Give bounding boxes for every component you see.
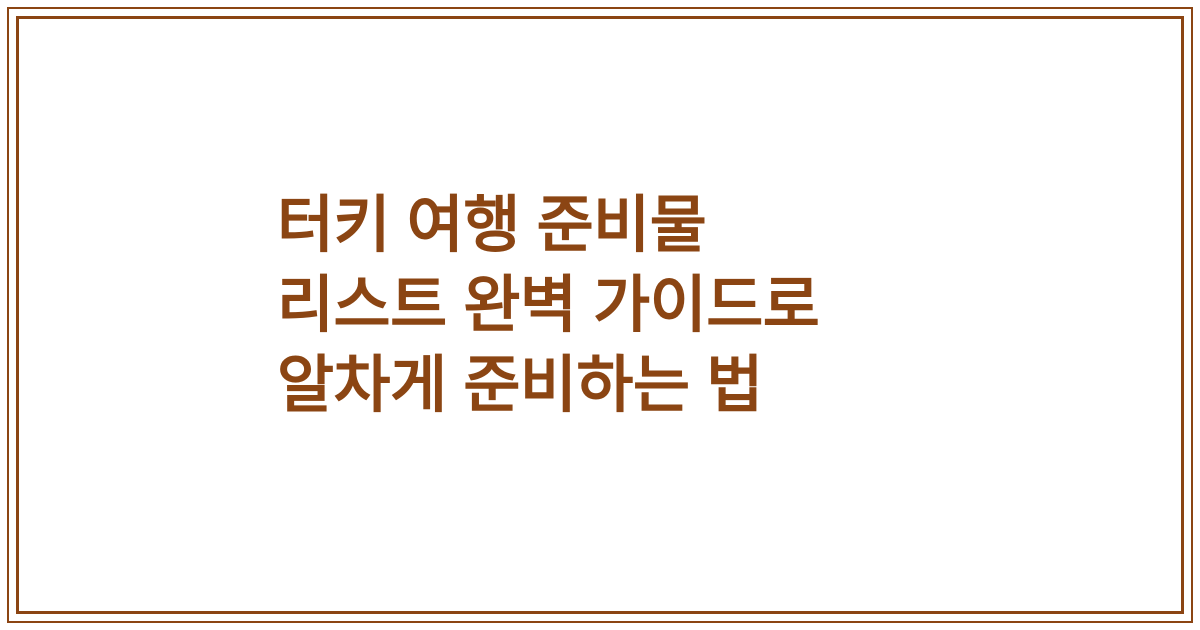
title-line-1: 터키 여행 준비물 <box>277 186 977 266</box>
title-line-2: 리스트 완벽 가이드로 <box>277 266 977 346</box>
title-line-3: 알차게 준비하는 법 <box>277 346 977 426</box>
thumbnail-card: 터키 여행 준비물 리스트 완벽 가이드로 알차게 준비하는 법 <box>0 0 1200 630</box>
page-title: 터키 여행 준비물 리스트 완벽 가이드로 알차게 준비하는 법 <box>277 186 977 426</box>
